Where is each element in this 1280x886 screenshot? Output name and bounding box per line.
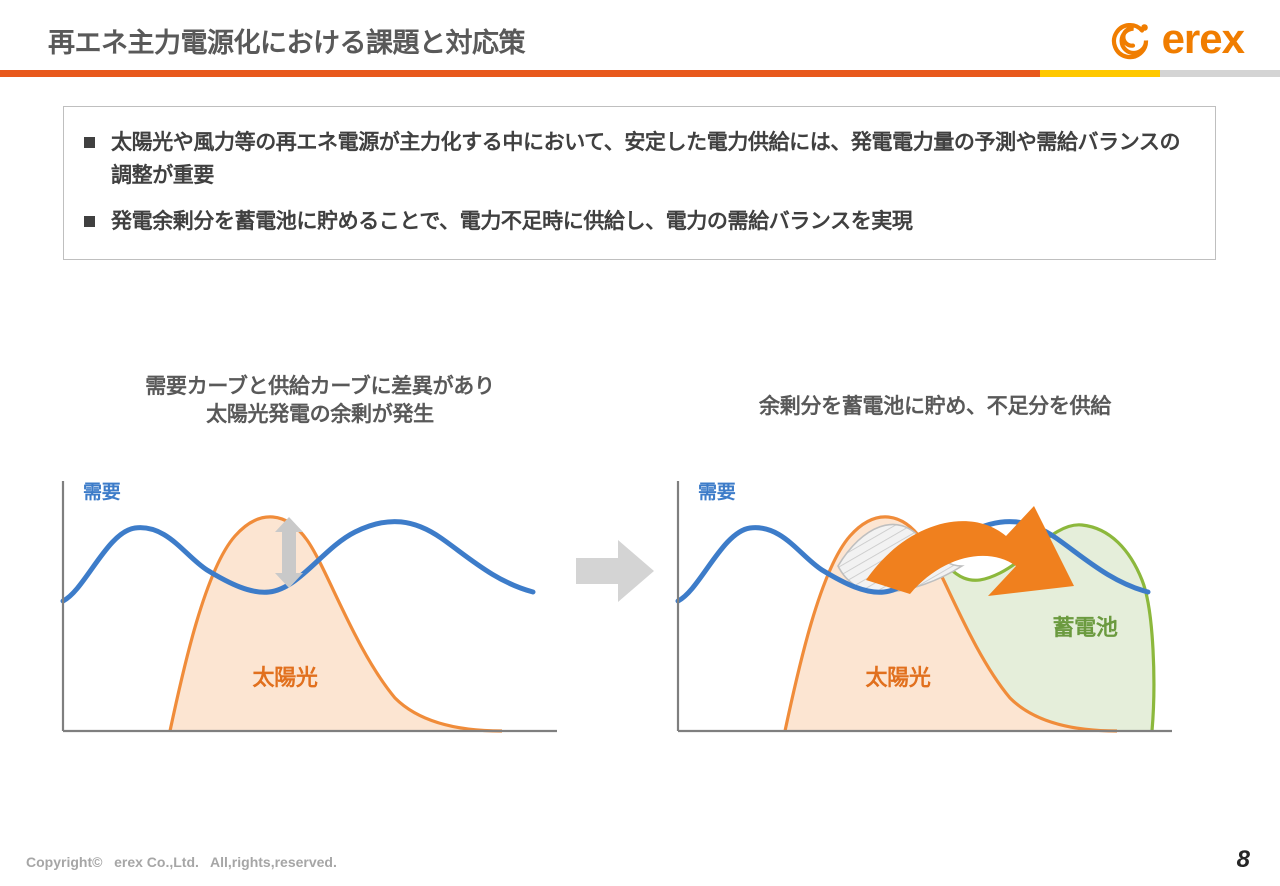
right-panel-caption: 余剰分を蓄電池に貯め、不足分を供給 (680, 393, 1190, 421)
right-caption-line-1: 余剰分を蓄電池に貯め、不足分を供給 (680, 393, 1190, 421)
erex-logo: erex (1108, 16, 1244, 62)
divider-segment-grey (1160, 70, 1280, 77)
left-panel-caption: 需要カーブと供給カーブに差異があり 太陽光発電の余剰が発生 (60, 373, 580, 430)
page-title: 再エネ主力電源化における課題と対応策 (48, 21, 525, 60)
solar-label: 太陽光 (865, 665, 930, 690)
copyright-text: Copyright© erex Co.,Ltd. All,rights,rese… (26, 854, 337, 870)
bullet-text: 発電余剰分を蓄電池に貯めることで、電力不足時に供給し、電力の需給バランスを実現 (111, 206, 913, 239)
divider-segment-orange (0, 70, 1040, 77)
left-caption-line-2: 太陽光発電の余剰が発生 (60, 401, 580, 429)
page-number: 8 (1237, 846, 1250, 874)
bullet-square-icon (84, 137, 95, 148)
header-divider-bar (0, 70, 1280, 77)
battery-label: 蓄電池 (1052, 615, 1117, 640)
erex-wordmark: erex (1162, 18, 1244, 60)
demand-label: 需要 (698, 481, 736, 503)
bullet-text: 太陽光や風力等の再エネ電源が主力化する中において、安定した電力供給には、発電電力… (111, 127, 1191, 192)
bullet-square-icon (84, 216, 95, 227)
divider-segment-yellow (1040, 70, 1160, 77)
erex-swirl-icon (1108, 16, 1154, 62)
chart-demand-solar-battery: 需要 太陽光 蓄電池 (670, 470, 1180, 745)
demand-label: 需要 (83, 481, 121, 503)
left-caption-line-1: 需要カーブと供給カーブに差異があり (60, 373, 580, 401)
solar-label: 太陽光 (252, 665, 317, 690)
step-arrow-icon (572, 536, 658, 606)
bullet-item: 太陽光や風力等の再エネ電源が主力化する中において、安定した電力供給には、発電電力… (64, 107, 1215, 192)
summary-box: 太陽光や風力等の再エネ電源が主力化する中において、安定した電力供給には、発電電力… (63, 106, 1216, 260)
bullet-item: 発電余剰分を蓄電池に貯めることで、電力不足時に供給し、電力の需給バランスを実現 (64, 192, 1215, 239)
chart-demand-vs-solar: 需要 太陽光 (55, 470, 565, 745)
